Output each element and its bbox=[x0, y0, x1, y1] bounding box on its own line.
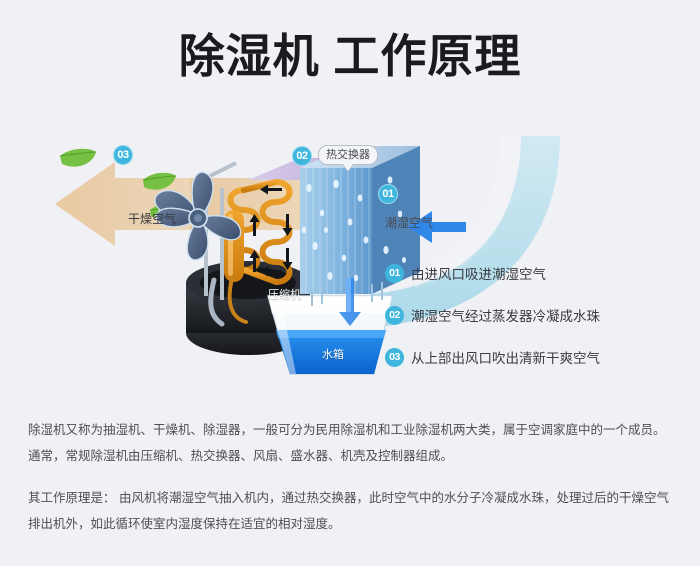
paragraph-2-line-2: 排出机外，如此循环使室内湿度保持在适宜的相对湿度。 bbox=[28, 512, 676, 538]
list-item: 02 潮湿空气经过蒸发器冷凝成水珠 bbox=[385, 298, 685, 332]
step-text-01: 由进风口吸进潮湿空气 bbox=[411, 263, 546, 283]
badge-03: 03 bbox=[113, 145, 133, 165]
step-list: 01 由进风口吸进潮湿空气 02 潮湿空气经过蒸发器冷凝成水珠 03 从上部出风… bbox=[385, 256, 685, 382]
step-text-02: 潮湿空气经过蒸发器冷凝成水珠 bbox=[411, 305, 600, 325]
paragraph-1-line-1: 除湿机又称为抽湿机、干燥机、除湿器，一般可分为民用除湿机和工业除湿机两大类，属于… bbox=[28, 418, 676, 444]
page-title: 除湿机 工作原理 bbox=[0, 30, 700, 83]
water-tank bbox=[268, 296, 392, 374]
humid-air-label: 潮湿空气 bbox=[385, 214, 433, 231]
page-title-container: 除湿机 工作原理 bbox=[0, 30, 700, 83]
list-item: 03 从上部出风口吹出清新干爽空气 bbox=[385, 340, 685, 374]
description-paragraph-2: 其工作原理是： 由风机将潮湿空气抽入机内，通过热交换器，此时空气中的水分子冷凝成… bbox=[28, 486, 676, 537]
heat-exchanger-callout: 热交换器 bbox=[318, 145, 378, 165]
compressor-label: 压缩机 bbox=[268, 286, 301, 302]
step-badge-01: 01 bbox=[385, 264, 404, 283]
step-badge-02: 02 bbox=[385, 306, 404, 325]
badge-02: 02 bbox=[292, 146, 312, 166]
paragraph-2-line-1: 其工作原理是： 由风机将潮湿空气抽入机内，通过热交换器，此时空气中的水分子冷凝成… bbox=[28, 486, 676, 512]
heat-exchanger-label: 热交换器 bbox=[326, 149, 370, 161]
callout-tail-icon bbox=[343, 164, 353, 171]
step-text-03: 从上部出风口吹出清新干爽空气 bbox=[411, 347, 600, 367]
paragraph-1-line-2: 通常，常规除湿机由压缩机、热交换器、风扇、盛水器、机壳及控制器组成。 bbox=[28, 444, 676, 470]
list-item: 01 由进风口吸进潮湿空气 bbox=[385, 256, 685, 290]
step-badge-03: 03 bbox=[385, 348, 404, 367]
dry-air-label: 干燥空气 bbox=[128, 210, 176, 227]
badge-01: 01 bbox=[378, 184, 398, 204]
water-tank-label: 水箱 bbox=[322, 346, 344, 362]
description-paragraph-1: 除湿机又称为抽湿机、干燥机、除湿器，一般可分为民用除湿机和工业除湿机两大类，属于… bbox=[28, 418, 676, 469]
